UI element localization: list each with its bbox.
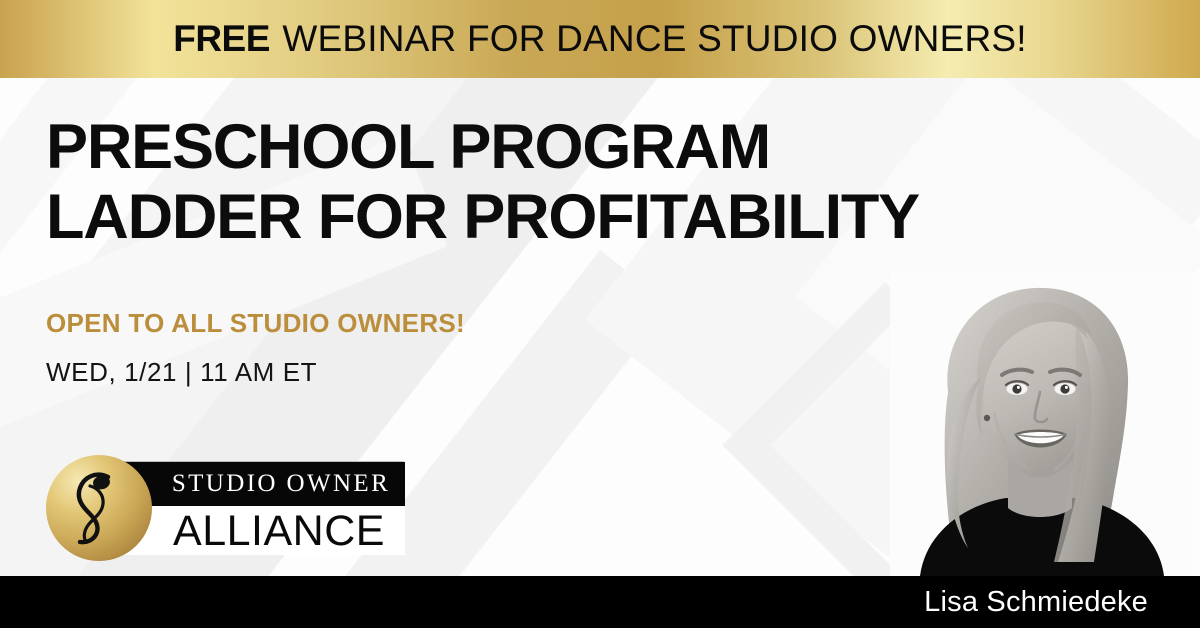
studio-owner-alliance-logo: STUDIO OWNER ALLIANCE	[46, 455, 404, 561]
logo-top-band: STUDIO OWNER	[115, 462, 405, 506]
headline-line-1: PRESCHOOL PROGRAM	[46, 112, 1106, 182]
datetime-text: WED, 1/21 | 11 AM ET	[46, 357, 317, 388]
speaker-name-text: Lisa Schmiedeke	[924, 586, 1200, 619]
top-gold-banner: FREE WEBINAR FOR DANCE STUDIO OWNERS!	[0, 0, 1200, 78]
top-banner-text: FREE WEBINAR FOR DANCE STUDIO OWNERS!	[173, 18, 1027, 60]
headline-line-2: LADDER FOR PROFITABILITY	[46, 182, 1106, 252]
top-banner-rest: WEBINAR FOR DANCE STUDIO OWNERS!	[272, 18, 1027, 59]
logo-text-box: STUDIO OWNER ALLIANCE	[114, 461, 404, 555]
speaker-name-bar: Lisa Schmiedeke	[0, 576, 1200, 628]
headshot-illustration	[890, 272, 1190, 576]
logo-bottom-band: ALLIANCE	[115, 506, 405, 555]
audience-subtitle: OPEN TO ALL STUDIO OWNERS!	[46, 308, 465, 339]
logo-alliance-text: ALLIANCE	[135, 509, 385, 553]
logo-studio-owner-text: STUDIO OWNER	[130, 470, 390, 498]
dancer-figure-icon	[46, 455, 152, 561]
webinar-promo-banner: FREE WEBINAR FOR DANCE STUDIO OWNERS! PR…	[0, 0, 1200, 628]
speaker-portrait-image	[890, 272, 1190, 576]
page-title: PRESCHOOL PROGRAM LADDER FOR PROFITABILI…	[46, 112, 1106, 252]
top-banner-emphasis: FREE	[173, 18, 270, 59]
